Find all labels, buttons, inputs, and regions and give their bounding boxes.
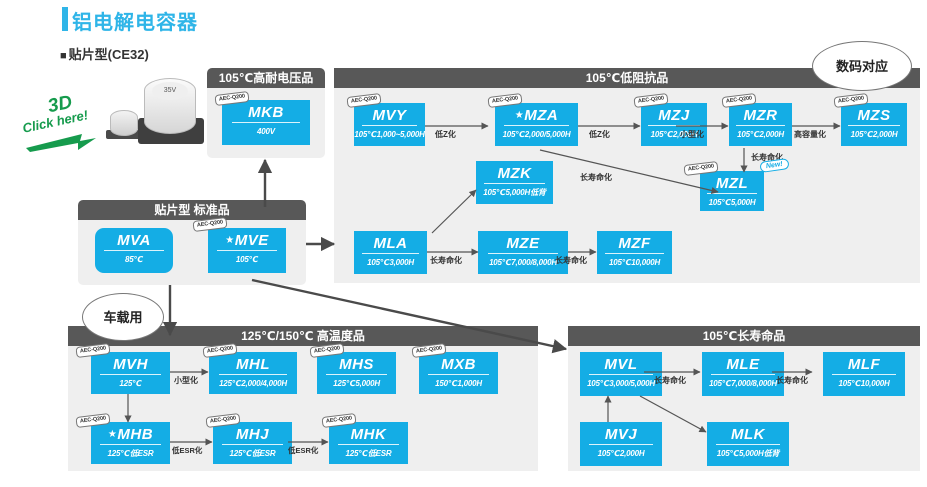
product-spec-mhk: 125℃低ESR <box>329 445 408 460</box>
product-box-mvl[interactable]: MVL 105℃3,000/5,000H <box>580 352 662 396</box>
product-box-mle[interactable]: MLE 105℃7,000/8,000H <box>702 352 784 396</box>
arrow-label-mvh-mhl: 小型化 <box>174 375 198 386</box>
product-spec-mhb: 125℃低ESR <box>91 445 170 460</box>
title-accent-bar <box>62 7 68 31</box>
product-spec-mzr: 105℃2,000H <box>729 126 792 141</box>
product-name-mzs: MZS <box>841 103 907 124</box>
product-box-mzs[interactable]: MZS 105℃2,000H <box>841 103 907 146</box>
product-box-mhl[interactable]: MHL 125℃2,000/4,000H <box>209 352 297 394</box>
product-name-mzl: MZL <box>700 171 764 192</box>
product-box-mhj[interactable]: MHJ 125℃低ESR <box>213 422 292 464</box>
product-spec-mkb: 400V <box>222 123 310 138</box>
product-name-mvl: MVL <box>580 352 662 373</box>
product-name-mva: MVA <box>95 228 173 249</box>
product-spec-mzs: 105℃2,000H <box>841 126 907 141</box>
product-spec-mlk: 105℃5,000H低背 <box>707 445 789 460</box>
product-box-mkb[interactable]: MKB 400V <box>222 100 310 145</box>
panel-high-voltage-title: 105℃高耐电压品 <box>207 68 325 88</box>
product-name-mze: MZE <box>478 231 568 252</box>
product-box-mzf[interactable]: MZF 105℃10,000H <box>597 231 672 274</box>
product-box-mzk[interactable]: MZK 105℃5,000H低背 <box>476 161 553 204</box>
capacitor-photo: 35V <box>108 68 204 162</box>
product-box-mzl[interactable]: MZL 105℃5,000H <box>700 171 764 211</box>
arrow-label-mza-mzl: 长寿命化 <box>580 172 612 183</box>
product-box-mvh[interactable]: MVH 125℃ <box>91 352 170 394</box>
product-spec-mvl: 105℃3,000/5,000H <box>580 375 662 390</box>
product-spec-mvh: 125℃ <box>91 375 170 390</box>
arrow-label-mzj-mzr: 小型化 <box>680 129 704 140</box>
product-spec-mlf: 105℃10,000H <box>823 375 905 390</box>
product-spec-mxb: 150℃1,000H <box>419 375 498 390</box>
product-box-mlf[interactable]: MLF 105℃10,000H <box>823 352 905 396</box>
product-spec-mle: 105℃7,000/8,000H <box>702 375 784 390</box>
page-title: 铝电解电容器 <box>72 6 198 35</box>
product-name-mvy: MVY <box>354 103 425 124</box>
subtitle-text: 贴片型(CE32) <box>69 47 149 62</box>
product-spec-mla: 105℃3,000H <box>354 254 427 269</box>
arrow-label-mza-mzj: 低Z化 <box>589 129 610 140</box>
arrow-label-mhb-mhj: 低ESR化 <box>172 445 202 456</box>
product-spec-mvy: 105℃1,000~5,000H <box>354 126 425 141</box>
product-box-mvj[interactable]: MVJ 105℃2,000H <box>580 422 662 466</box>
product-spec-mve: 105℃ <box>208 251 286 266</box>
product-name-mhb: ★MHB <box>91 422 170 443</box>
product-box-mza[interactable]: ★MZA 105℃2,000/5,000H <box>495 103 578 146</box>
product-name-mle: MLE <box>702 352 784 373</box>
product-box-mve[interactable]: ★MVE 105℃ <box>208 228 286 273</box>
arrow-label-mze-mzf: 长寿命化 <box>555 255 587 266</box>
section-subtitle: ■贴片型(CE32) <box>60 44 149 63</box>
3d-click-here-link[interactable]: 3D Click here! <box>22 92 112 162</box>
product-name-mza: ★MZA <box>495 103 578 124</box>
product-box-mvy[interactable]: MVY 105℃1,000~5,000H <box>354 103 425 146</box>
product-name-mve: ★MVE <box>208 228 286 249</box>
arrow-label-mvy-mza: 低Z化 <box>435 129 456 140</box>
large-capacitor-top-marking: 35V <box>152 82 188 100</box>
arrow-label-mzr-mzs: 高容量化 <box>794 129 826 140</box>
arrow-label-mvl-mle: 长寿命化 <box>654 375 686 386</box>
product-box-mla[interactable]: MLA 105℃3,000H <box>354 231 427 274</box>
panel-smd-standard-title: 贴片型 标准品 <box>78 200 306 220</box>
product-box-mzr[interactable]: MZR 105℃2,000H <box>729 103 792 146</box>
product-name-mvh: MVH <box>91 352 170 373</box>
product-spec-mzk: 105℃5,000H低背 <box>476 184 553 199</box>
product-box-mze[interactable]: MZE 105℃7,000/8,000H <box>478 231 568 274</box>
product-spec-mhj: 125℃低ESR <box>213 445 292 460</box>
product-spec-mva: 85℃ <box>95 251 173 266</box>
bullet-square-icon: ■ <box>60 50 67 62</box>
product-name-mlk: MLK <box>707 422 789 443</box>
product-box-mhb[interactable]: ★MHB 125℃低ESR <box>91 422 170 464</box>
product-box-mhk[interactable]: MHK 125℃低ESR <box>329 422 408 464</box>
product-spec-mhs: 125℃5,000H <box>317 375 396 390</box>
product-spec-mzl: 105℃5,000H <box>700 194 764 209</box>
product-name-mzj: MZJ <box>641 103 707 124</box>
product-name-mzr: MZR <box>729 103 792 124</box>
product-box-mva[interactable]: MVA 85℃ <box>95 228 173 273</box>
product-box-mlk[interactable]: MLK 105℃5,000H低背 <box>707 422 789 466</box>
small-capacitor-body <box>110 110 138 136</box>
arrow-label-mhj-mhk: 低ESR化 <box>288 445 318 456</box>
product-spec-mzf: 105℃10,000H <box>597 254 672 269</box>
product-name-mlf: MLF <box>823 352 905 373</box>
panel-long-life-title: 105℃长寿命品 <box>568 326 920 346</box>
product-spec-mhl: 125℃2,000/4,000H <box>209 375 297 390</box>
star-marker: ★ <box>108 429 117 440</box>
product-name-mzf: MZF <box>597 231 672 252</box>
star-marker: ★ <box>515 110 524 121</box>
product-spec-mvj: 105℃2,000H <box>580 445 662 460</box>
product-name-mvj: MVJ <box>580 422 662 443</box>
product-name-mzk: MZK <box>476 161 553 182</box>
product-box-mhs[interactable]: MHS 125℃5,000H <box>317 352 396 394</box>
arrow-label-mla-mze: 长寿命化 <box>430 255 462 266</box>
product-name-mla: MLA <box>354 231 427 252</box>
oval-automotive: 车载用 <box>82 293 164 341</box>
star-marker: ★ <box>225 235 234 246</box>
product-spec-mza: 105℃2,000/5,000H <box>495 126 578 141</box>
green-arrow-icon <box>26 132 100 152</box>
product-box-mxb[interactable]: MXB 150℃1,000H <box>419 352 498 394</box>
arrow-label-mle-mlf: 长寿命化 <box>776 375 808 386</box>
oval-digital-support: 数码对应 <box>812 41 912 91</box>
